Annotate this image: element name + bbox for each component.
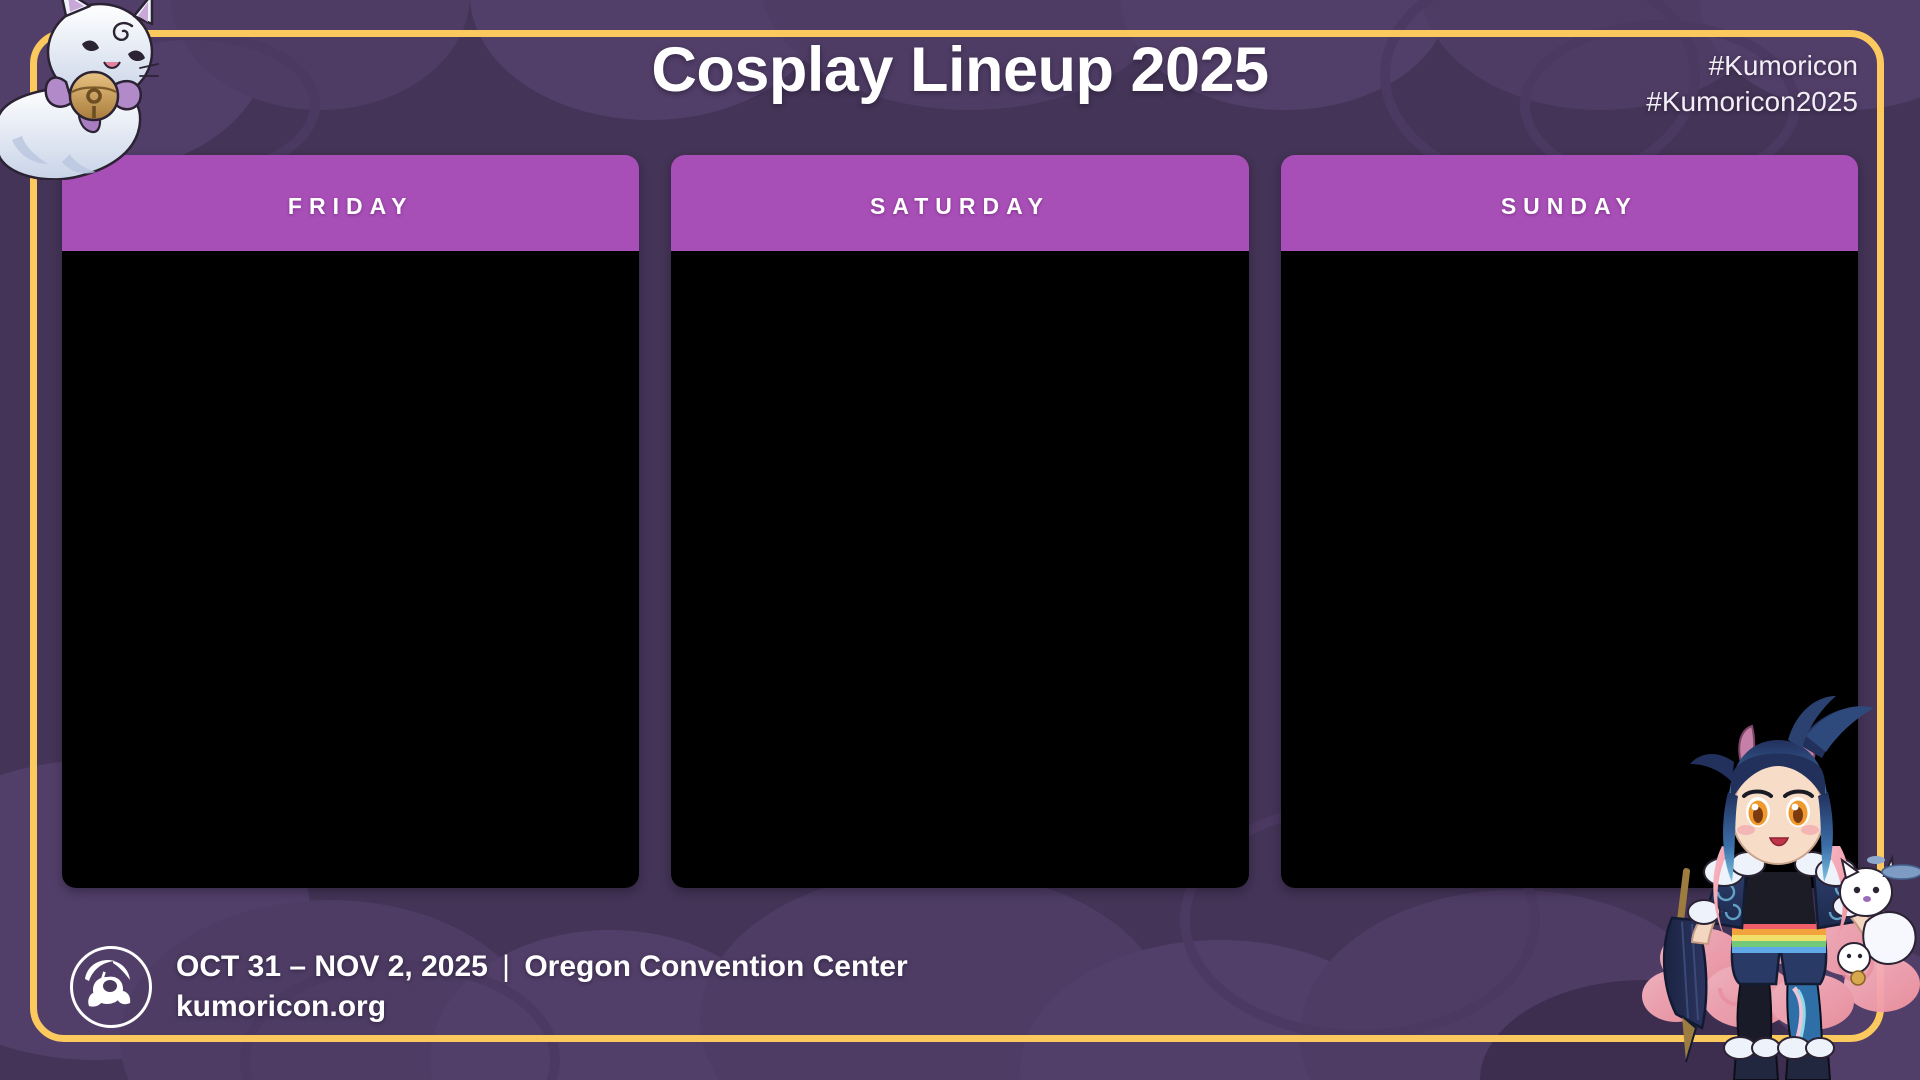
hashtag-primary: #Kumoricon <box>1646 48 1858 84</box>
hashtag-block: #Kumoricon #Kumoricon2025 <box>1646 48 1858 120</box>
ghost-cat-mascot-icon <box>0 0 172 180</box>
poster-canvas: Cosplay Lineup 2025 #Kumoricon #Kumorico… <box>0 0 1920 1080</box>
footer-website[interactable]: kumoricon.org <box>176 990 908 1024</box>
day-card-saturday[interactable]: Saturday <box>671 155 1248 888</box>
day-card-friday[interactable]: Friday <box>62 155 639 888</box>
kumoricon-girl-mascot-icon <box>1630 696 1920 1080</box>
footer: OCT 31 – NOV 2, 2025 | Oregon Convention… <box>70 946 908 1028</box>
footer-text: OCT 31 – NOV 2, 2025 | Oregon Convention… <box>176 950 908 1024</box>
footer-separator: | <box>496 950 516 983</box>
footer-venue: Oregon Convention Center <box>524 950 907 983</box>
day-header-sunday: Sunday <box>1281 155 1858 251</box>
kumoricon-logo-icon <box>70 946 152 1028</box>
footer-dates: OCT 31 – NOV 2, 2025 <box>176 950 488 983</box>
hashtag-secondary: #Kumoricon2025 <box>1646 84 1858 120</box>
day-body-friday[interactable] <box>62 251 639 888</box>
footer-dates-venue: OCT 31 – NOV 2, 2025 | Oregon Convention… <box>176 950 908 984</box>
day-columns: Friday Saturday Sunday <box>62 155 1858 888</box>
day-header-saturday: Saturday <box>671 155 1248 251</box>
page-title: Cosplay Lineup 2025 <box>0 34 1920 106</box>
day-body-saturday[interactable] <box>671 251 1248 888</box>
